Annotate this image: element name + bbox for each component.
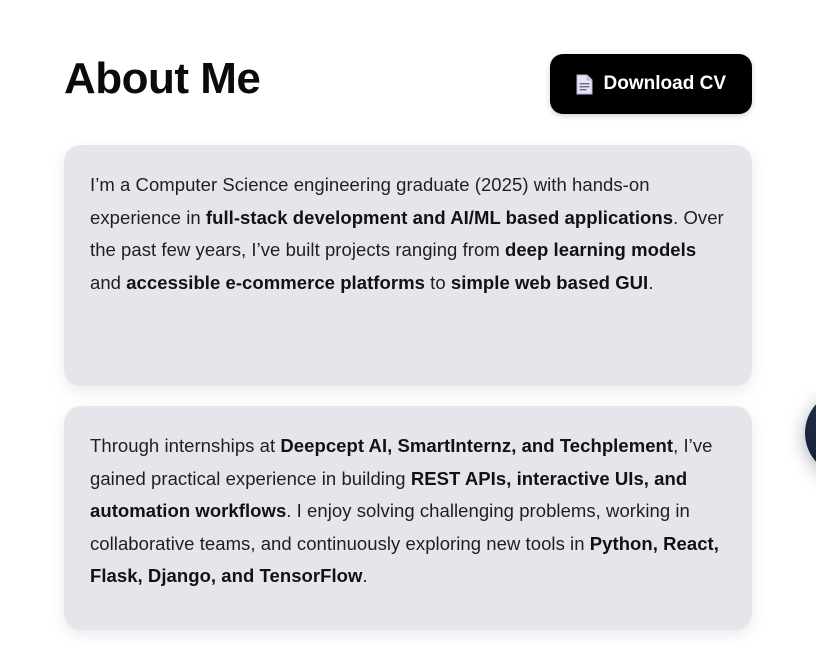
download-cv-button[interactable]: Download CV	[550, 54, 752, 114]
document-icon	[576, 74, 593, 95]
about-me-page: About Me Download CV I’m a Computer Scie…	[0, 0, 816, 666]
about-experience-card: Through internships at Deepcept AI, Smar…	[64, 406, 752, 630]
page-title: About Me	[64, 48, 260, 110]
about-intro-card: I’m a Computer Science engineering gradu…	[64, 145, 752, 386]
page-header: About Me Download CV	[64, 50, 752, 116]
download-cv-label: Download CV	[604, 73, 726, 95]
about-experience-text: Through internships at Deepcept AI, Smar…	[90, 430, 726, 593]
decorative-orb	[805, 390, 816, 476]
about-intro-text: I’m a Computer Science engineering gradu…	[90, 169, 726, 299]
